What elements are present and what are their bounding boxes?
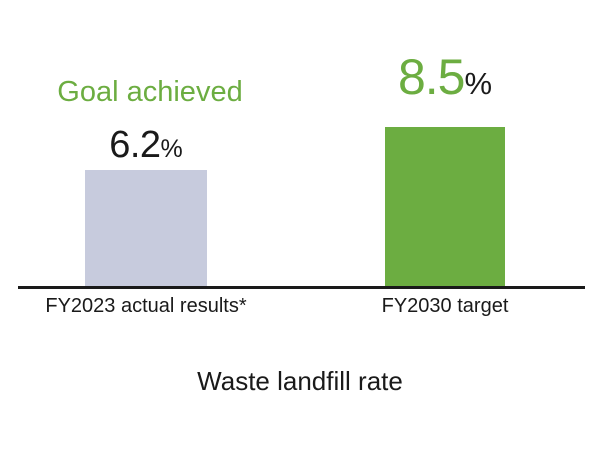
bar-fy2023-actual: [85, 170, 207, 286]
bar-fy2030-target: [385, 127, 505, 286]
value-label-fy2030-target: 8.5%: [375, 52, 515, 102]
chart-plot-area: Goal achieved 6.2% 8.5% FY2023 actual re…: [0, 0, 600, 290]
chart-title: Waste landfill rate: [0, 368, 600, 394]
category-label-fy2023-actual: FY2023 actual results*: [26, 296, 266, 316]
goal-achieved-annotation: Goal achieved: [40, 78, 260, 107]
category-label-fy2030-target: FY2030 target: [345, 296, 545, 316]
value-number-fy2023-actual: 6.2: [109, 124, 160, 166]
value-label-fy2023-actual: 6.2%: [85, 126, 207, 164]
waste-landfill-rate-chart: Goal achieved 6.2% 8.5% FY2023 actual re…: [0, 0, 600, 460]
x-axis-baseline: [18, 286, 585, 289]
value-unit-fy2023-actual: %: [161, 135, 183, 163]
value-unit-fy2030-target: %: [464, 66, 492, 101]
value-number-fy2030-target: 8.5: [398, 49, 465, 105]
